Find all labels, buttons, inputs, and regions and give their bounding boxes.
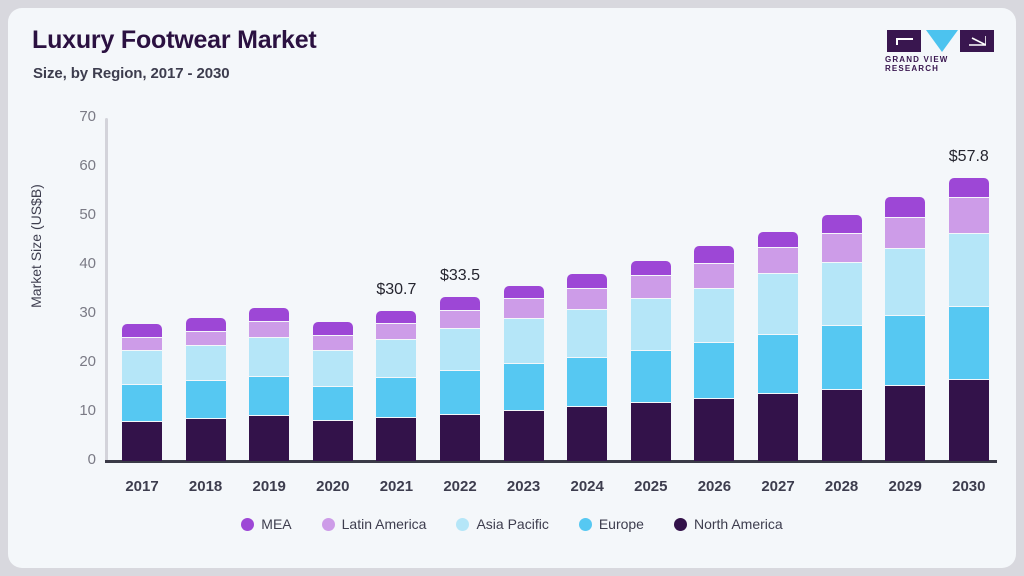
x-axis-tick-label: 2028 bbox=[810, 478, 874, 495]
bar-segment bbox=[694, 288, 734, 342]
y-axis-tick-label: 30 bbox=[56, 304, 96, 321]
bar-segment bbox=[631, 261, 671, 276]
legend-swatch-icon bbox=[322, 518, 335, 531]
bar-value-label: $33.5 bbox=[420, 267, 500, 285]
bar-segment bbox=[885, 217, 925, 248]
bar-segment bbox=[313, 420, 353, 461]
y-axis-label: Market Size (US$B) bbox=[28, 156, 44, 336]
bar-2017[interactable] bbox=[122, 118, 162, 461]
y-axis-tick-label: 70 bbox=[56, 108, 96, 125]
x-axis-tick-label: 2020 bbox=[301, 478, 365, 495]
bar-2018[interactable] bbox=[186, 118, 226, 461]
bar-segment bbox=[758, 232, 798, 247]
bar-segment bbox=[440, 310, 480, 328]
x-axis-tick-label: 2018 bbox=[174, 478, 238, 495]
bar-segment bbox=[122, 421, 162, 461]
bar-segment bbox=[567, 288, 607, 310]
bar-segment bbox=[440, 328, 480, 370]
bar-segment bbox=[694, 246, 734, 262]
legend-item-latin-america[interactable]: Latin America bbox=[322, 516, 427, 532]
bar-2023[interactable] bbox=[504, 118, 544, 461]
bar-2029[interactable] bbox=[885, 118, 925, 461]
bar-segment bbox=[822, 233, 862, 262]
bar-2022[interactable] bbox=[440, 118, 480, 461]
bar-segment bbox=[440, 370, 480, 414]
y-axis-tick-label: 40 bbox=[56, 255, 96, 272]
bar-segment bbox=[376, 377, 416, 417]
bar-segment bbox=[822, 389, 862, 461]
bar-segment bbox=[376, 311, 416, 323]
bar-segment bbox=[567, 406, 607, 461]
bar-segment bbox=[567, 357, 607, 406]
bar-segment bbox=[376, 417, 416, 461]
bar-segment bbox=[694, 398, 734, 461]
bar-segment bbox=[504, 363, 544, 410]
bar-segment bbox=[758, 393, 798, 461]
bar-segment bbox=[249, 308, 289, 322]
stacked-bar-chart: Market Size (US$B) 010203040506070 20172… bbox=[8, 8, 1016, 568]
bar-segment bbox=[885, 315, 925, 385]
y-axis-tick-label: 20 bbox=[56, 353, 96, 370]
bar-segment bbox=[885, 248, 925, 315]
bar-segment bbox=[504, 318, 544, 363]
bar-segment bbox=[122, 324, 162, 337]
legend-item-asia-pacific[interactable]: Asia Pacific bbox=[456, 516, 548, 532]
bar-segment bbox=[885, 385, 925, 461]
y-axis-tick-label: 50 bbox=[56, 206, 96, 223]
bar-segment bbox=[376, 323, 416, 339]
bar-segment bbox=[249, 415, 289, 461]
bar-segment bbox=[949, 379, 989, 461]
bar-segment bbox=[822, 215, 862, 233]
legend-swatch-icon bbox=[241, 518, 254, 531]
bar-segment bbox=[186, 318, 226, 331]
x-axis-tick-label: 2022 bbox=[428, 478, 492, 495]
bar-segment bbox=[122, 337, 162, 350]
x-axis-tick-label: 2023 bbox=[492, 478, 556, 495]
bar-segment bbox=[949, 233, 989, 306]
bar-segment bbox=[313, 350, 353, 386]
bar-segment bbox=[631, 350, 671, 401]
legend-label: Europe bbox=[599, 516, 644, 532]
x-axis-tick-label: 2030 bbox=[937, 478, 1001, 495]
bar-2025[interactable] bbox=[631, 118, 671, 461]
bar-segment bbox=[567, 309, 607, 357]
bar-segment bbox=[822, 325, 862, 389]
legend-swatch-icon bbox=[674, 518, 687, 531]
bar-segment bbox=[249, 321, 289, 337]
bar-2020[interactable] bbox=[313, 118, 353, 461]
bar-segment bbox=[822, 262, 862, 326]
bar-2019[interactable] bbox=[249, 118, 289, 461]
legend-item-europe[interactable]: Europe bbox=[579, 516, 644, 532]
bar-segment bbox=[122, 384, 162, 421]
bar-segment bbox=[122, 350, 162, 384]
bar-segment bbox=[186, 345, 226, 380]
bar-segment bbox=[694, 263, 734, 288]
bar-2027[interactable] bbox=[758, 118, 798, 461]
bar-segment bbox=[758, 273, 798, 334]
bar-segment bbox=[313, 322, 353, 335]
bar-segment bbox=[249, 337, 289, 376]
bar-value-label: $57.8 bbox=[929, 148, 1009, 166]
x-axis-tick-label: 2026 bbox=[682, 478, 746, 495]
chart-legend: MEALatin AmericaAsia PacificEuropeNorth … bbox=[8, 516, 1016, 532]
legend-item-north-america[interactable]: North America bbox=[674, 516, 783, 532]
bar-2030[interactable] bbox=[949, 118, 989, 461]
x-axis-line bbox=[105, 460, 997, 463]
bar-segment bbox=[440, 414, 480, 461]
bar-segment bbox=[186, 331, 226, 345]
x-axis-tick-label: 2024 bbox=[555, 478, 619, 495]
legend-swatch-icon bbox=[579, 518, 592, 531]
bar-segment bbox=[885, 197, 925, 217]
y-axis-line bbox=[105, 118, 108, 462]
y-axis-tick-label: 10 bbox=[56, 402, 96, 419]
legend-label: MEA bbox=[261, 516, 291, 532]
bar-2026[interactable] bbox=[694, 118, 734, 461]
bar-segment bbox=[758, 247, 798, 273]
bar-segment bbox=[313, 335, 353, 350]
x-axis-tick-label: 2025 bbox=[619, 478, 683, 495]
bar-2028[interactable] bbox=[822, 118, 862, 461]
bar-segment bbox=[631, 275, 671, 298]
bar-segment bbox=[376, 339, 416, 377]
x-axis-tick-label: 2027 bbox=[746, 478, 810, 495]
legend-label: North America bbox=[694, 516, 783, 532]
bar-segment bbox=[758, 334, 798, 393]
bar-segment bbox=[440, 297, 480, 310]
y-axis-tick-label: 60 bbox=[56, 157, 96, 174]
bar-segment bbox=[186, 380, 226, 418]
bar-segment bbox=[949, 197, 989, 232]
x-axis-tick-label: 2019 bbox=[237, 478, 301, 495]
x-axis-tick-label: 2017 bbox=[110, 478, 174, 495]
legend-label: Latin America bbox=[342, 516, 427, 532]
bar-segment bbox=[504, 410, 544, 461]
legend-label: Asia Pacific bbox=[476, 516, 548, 532]
bar-segment bbox=[631, 298, 671, 350]
bar-segment bbox=[949, 306, 989, 379]
bar-segment bbox=[694, 342, 734, 398]
bar-segment bbox=[504, 298, 544, 318]
bar-segment bbox=[949, 178, 989, 198]
bar-segment bbox=[313, 386, 353, 420]
bar-segment bbox=[631, 402, 671, 461]
bar-segment bbox=[567, 274, 607, 287]
x-axis-tick-label: 2029 bbox=[873, 478, 937, 495]
bar-2024[interactable] bbox=[567, 118, 607, 461]
y-axis-tick-label: 0 bbox=[56, 451, 96, 468]
bar-segment bbox=[249, 376, 289, 416]
x-axis-tick-label: 2021 bbox=[364, 478, 428, 495]
bar-segment bbox=[504, 286, 544, 299]
chart-card: Luxury Footwear Market Size, by Region, … bbox=[8, 8, 1016, 568]
bar-segment bbox=[186, 418, 226, 461]
legend-item-mea[interactable]: MEA bbox=[241, 516, 291, 532]
legend-swatch-icon bbox=[456, 518, 469, 531]
